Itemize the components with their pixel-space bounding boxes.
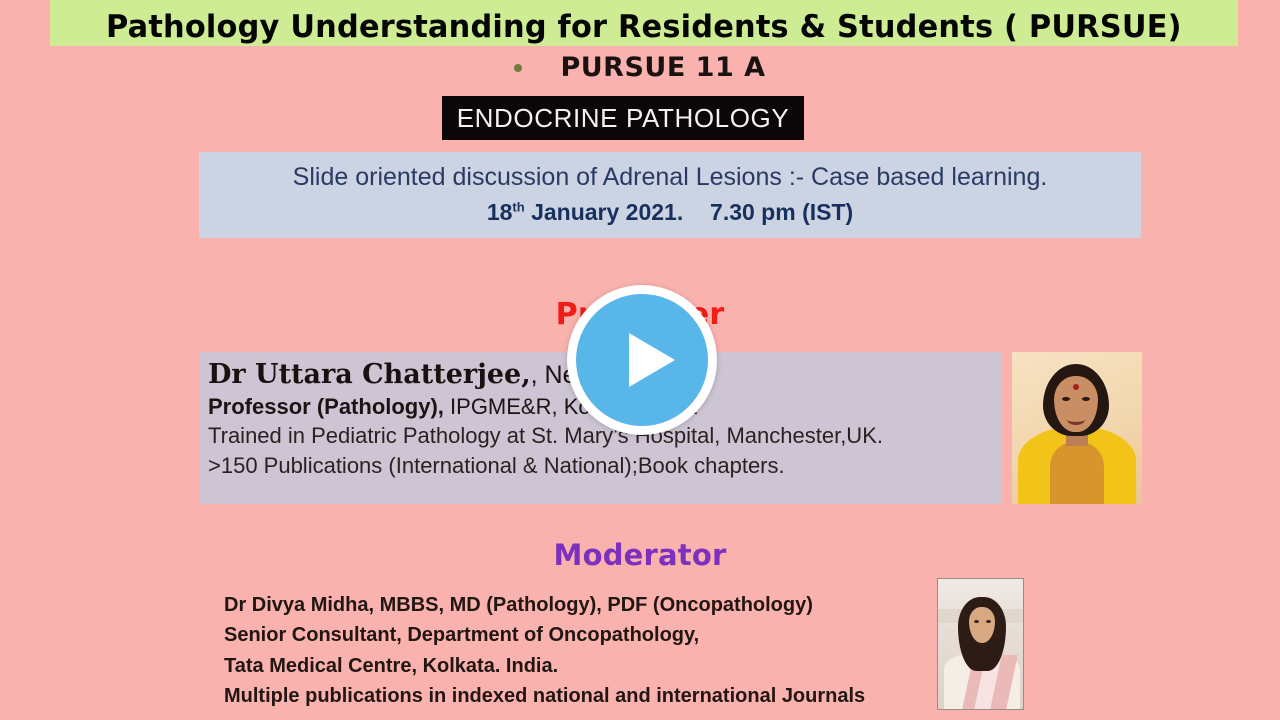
session-description-box: Slide oriented discussion of Adrenal Les… <box>199 152 1141 238</box>
presenter-photo-eye-left <box>1062 397 1070 401</box>
moderator-photo <box>937 578 1024 710</box>
moderator-photo-eye-left <box>974 620 979 623</box>
bullet-dot-icon <box>514 64 522 72</box>
session-datetime: 18th January 2021. 7.30 pm (IST) <box>199 197 1141 228</box>
moderator-line-4: Multiple publications in indexed nationa… <box>224 681 924 711</box>
session-description-text: Slide oriented discussion of Adrenal Les… <box>199 161 1141 195</box>
series-label: PURSUE 11 A <box>560 52 765 83</box>
presenter-photo <box>1012 352 1142 504</box>
presenter-photo-blouse <box>1050 442 1104 504</box>
presenter-photo-eye-right <box>1082 397 1090 401</box>
series-line: PURSUE 11 A <box>0 52 1280 83</box>
presenter-photo-smile <box>1067 414 1085 425</box>
moderator-heading: Moderator <box>0 538 1280 572</box>
presentation-title: Pathology Understanding for Residents & … <box>106 11 1182 44</box>
session-time: 7.30 pm (IST) <box>710 199 853 225</box>
moderator-photo-eye-right <box>986 620 991 623</box>
presenter-name: Dr Uttara Chatterjee, <box>208 359 531 390</box>
play-triangle-icon <box>629 333 675 387</box>
topic-label: ENDOCRINE PATHOLOGY <box>457 103 790 134</box>
moderator-line-2: Senior Consultant, Department of Oncopat… <box>224 620 924 650</box>
presenter-photo-bindi <box>1073 384 1079 390</box>
topic-bar: ENDOCRINE PATHOLOGY <box>442 96 804 140</box>
moderator-line-1: Dr Divya Midha, MBBS, MD (Pathology), PD… <box>224 590 924 620</box>
session-date-rest: January 2021. <box>531 199 683 225</box>
play-button[interactable] <box>567 285 717 435</box>
session-date-suffix: th <box>512 199 524 214</box>
moderator-info-block: Dr Divya Midha, MBBS, MD (Pathology), PD… <box>224 590 924 712</box>
moderator-line-3: Tata Medical Centre, Kolkata. India. <box>224 651 924 681</box>
title-banner: Pathology Understanding for Residents & … <box>50 0 1238 46</box>
presenter-designation: Professor (Pathology), <box>208 394 444 419</box>
video-slide-frame: Pathology Understanding for Residents & … <box>0 0 1280 720</box>
session-date-day: 18 <box>487 199 513 225</box>
presenter-publications: >150 Publications (International & Natio… <box>208 451 1002 480</box>
